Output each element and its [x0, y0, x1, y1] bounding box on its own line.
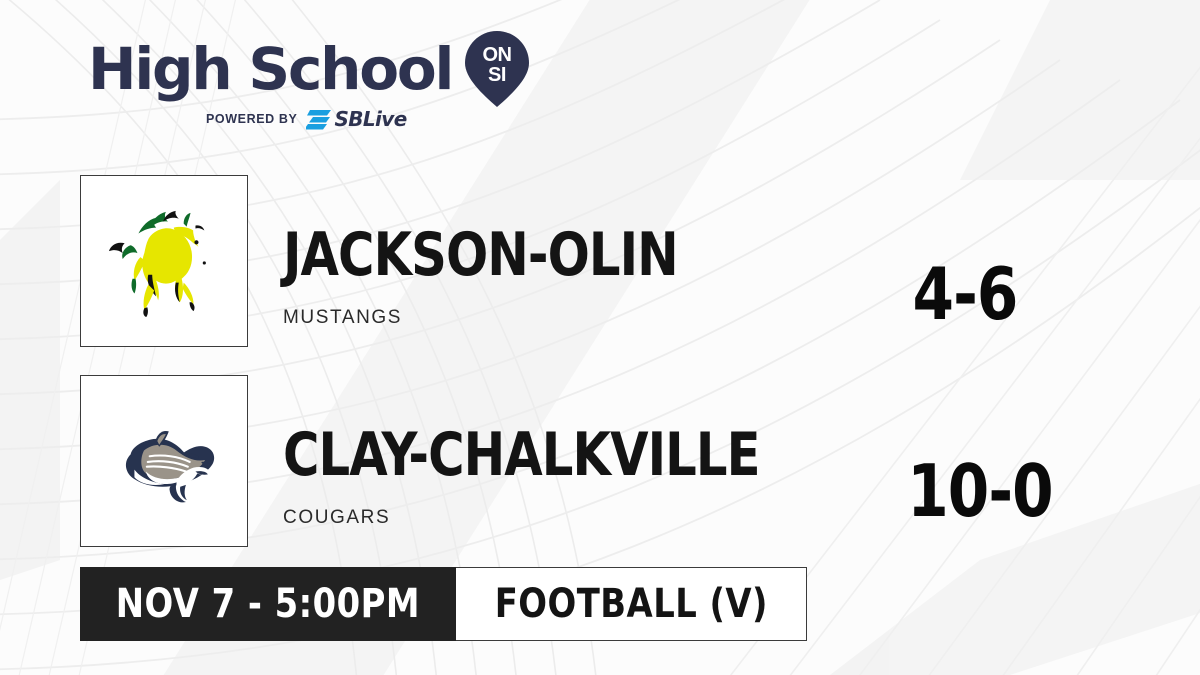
- team-name: CLAY-CHALKVILLE: [283, 425, 760, 485]
- team-mascot: COUGARS: [283, 507, 390, 529]
- sblive-wordmark: SBLive: [334, 107, 406, 131]
- game-sport-chip: FOOTBALL (V): [456, 567, 808, 641]
- svg-text:ON: ON: [483, 44, 512, 66]
- team-record: 4-6: [855, 258, 1076, 330]
- game-info-bar: NOV 7 - 5:00PM FOOTBALL (V): [80, 567, 807, 641]
- brand-lockup: High School ON SI POWERED BY SBLive: [88, 34, 518, 134]
- team-text-block: CLAY-CHALKVILLE COUGARS: [283, 375, 923, 547]
- brand-wordmark: High School: [88, 40, 452, 98]
- svg-text:SI: SI: [488, 64, 506, 86]
- team-name: JACKSON-OLIN: [283, 225, 678, 285]
- team-logo-box: [80, 375, 248, 547]
- team-mascot: MUSTANGS: [283, 307, 402, 329]
- team-text-block: JACKSON-OLIN MUSTANGS: [283, 175, 923, 347]
- cougar-head-logo: [102, 399, 226, 523]
- game-datetime-text: NOV 7 - 5:00PM: [116, 584, 420, 624]
- game-sport-text: FOOTBALL (V): [494, 584, 767, 624]
- team-record: 10-0: [870, 455, 1091, 527]
- powered-by-row: POWERED BY SBLive: [88, 108, 518, 130]
- game-datetime-chip: NOV 7 - 5:00PM: [80, 567, 456, 641]
- on-si-pin-icon: ON SI: [464, 30, 530, 108]
- brand-logo-row: High School ON SI: [88, 34, 518, 104]
- team-logo-box: [80, 175, 248, 347]
- sblive-logo: SBLive: [306, 107, 406, 131]
- mustang-horse-logo: [105, 202, 223, 320]
- powered-by-label: POWERED BY: [206, 112, 297, 126]
- matchup-graphic: High School ON SI POWERED BY SBLive: [0, 0, 1200, 675]
- sbl-bolt-icon: [306, 109, 332, 130]
